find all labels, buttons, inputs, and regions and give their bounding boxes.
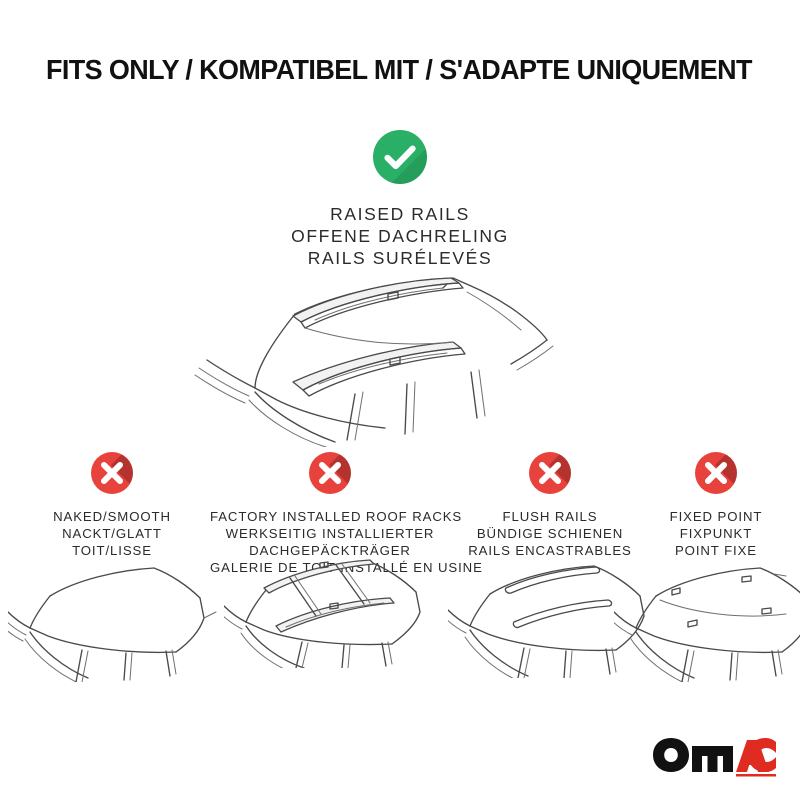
approved-label-en: RAISED RAILS (0, 203, 800, 225)
rejected-label-en: FLUSH RAILS (452, 508, 648, 525)
cross-icon (309, 452, 351, 494)
rejected-label-en: NAKED/SMOOTH (12, 508, 212, 525)
rejected-label-de: BÜNDIGE SCHIENEN (452, 525, 648, 542)
rejected-item-factory-roof-racks: FACTORY INSTALLED ROOF RACKS WERKSEITIG … (210, 452, 450, 577)
rejected-label-en: FIXED POINT (636, 508, 796, 525)
rejected-label-en: FACTORY INSTALLED ROOF RACKS (210, 508, 450, 525)
car-roof-fixed-points-illustration (614, 556, 800, 682)
approved-section: RAISED RAILS OFFENE DACHRELING RAILS SUR… (0, 130, 800, 269)
approved-label-de: OFFENE DACHRELING (0, 225, 800, 247)
page-title: FITS ONLY / KOMPATIBEL MIT / S'ADAPTE UN… (46, 54, 771, 86)
rejected-item-flush-rails: FLUSH RAILS BÜNDIGE SCHIENEN RAILS ENCAS… (452, 452, 648, 559)
rejected-label-de-1: WERKSEITIG INSTALLIERTER (210, 525, 450, 542)
logo-letter-m (692, 746, 733, 772)
logo-letter-o (653, 738, 689, 772)
car-roof-crossbars-illustration (224, 542, 436, 668)
omac-logo (650, 732, 778, 778)
car-roof-raised-rails-illustration (185, 272, 615, 447)
check-icon (373, 130, 427, 184)
rejected-label-de: FIXPUNKT (636, 525, 796, 542)
cross-icon (529, 452, 571, 494)
approved-label-group: RAISED RAILS OFFENE DACHRELING RAILS SUR… (0, 203, 800, 269)
rejected-label-group: FIXED POINT FIXPUNKT POINT FIXE (636, 508, 796, 559)
rejected-section: NAKED/SMOOTH NACKT/GLATT TOIT/LISSE (0, 452, 800, 692)
cross-icon (91, 452, 133, 494)
approved-label-fr: RAILS SURÉLEVÉS (0, 247, 800, 269)
rejected-item-naked-smooth: NAKED/SMOOTH NACKT/GLATT TOIT/LISSE (12, 452, 212, 559)
logo-underline (736, 774, 776, 777)
rejected-label-de: NACKT/GLATT (12, 525, 212, 542)
cross-icon (695, 452, 737, 494)
rejected-label-group: NAKED/SMOOTH NACKT/GLATT TOIT/LISSE (12, 508, 212, 559)
car-roof-bare-illustration (8, 556, 220, 682)
rejected-item-fixed-point: FIXED POINT FIXPUNKT POINT FIXE (636, 452, 796, 559)
